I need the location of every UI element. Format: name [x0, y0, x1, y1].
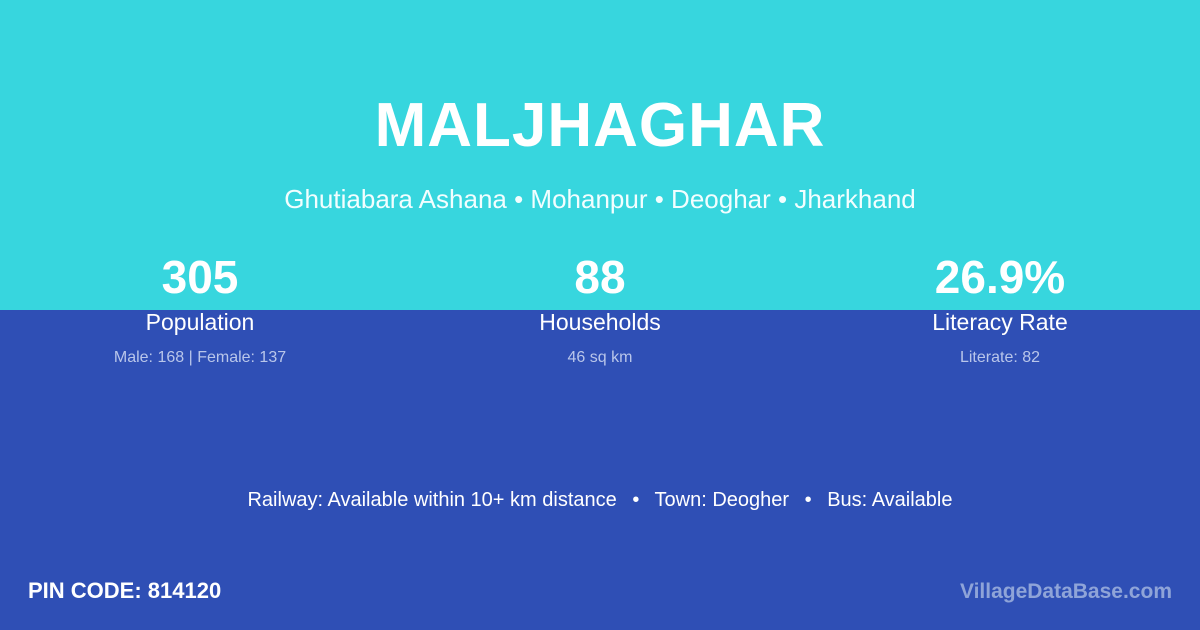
bullet-separator-icon: •: [622, 489, 649, 511]
bullet-separator-icon: •: [795, 489, 822, 511]
stat-value: 26.9%: [800, 248, 1200, 306]
page-title: MALJHAGHAR: [0, 86, 1200, 166]
stat-sublabel: Male: 168 | Female: 137: [0, 347, 400, 369]
stat-sublabel: Literate: 82: [800, 347, 1200, 369]
stat-households: 88 Households 46 sq km: [400, 248, 800, 369]
stat-value: 88: [400, 248, 800, 306]
amenity-town: Town: Deogher: [655, 489, 790, 511]
stat-sublabel: 46 sq km: [400, 347, 800, 369]
amenity-bus: Bus: Available: [827, 489, 952, 511]
stat-label: Households: [400, 307, 800, 337]
location-breadcrumb: Ghutiabara Ashana • Mohanpur • Deoghar •…: [0, 183, 1200, 215]
amenities-line: Railway: Available within 10+ km distanc…: [0, 486, 1200, 514]
stats-row: 305 Population Male: 168 | Female: 137 8…: [0, 248, 1200, 369]
stat-value: 305: [0, 248, 400, 306]
stat-label: Literacy Rate: [800, 307, 1200, 337]
village-info-card: MALJHAGHAR Ghutiabara Ashana • Mohanpur …: [0, 0, 1200, 630]
stat-label: Population: [0, 307, 400, 337]
site-brand: VillageDataBase.com: [960, 578, 1172, 606]
amenity-railway: Railway: Available within 10+ km distanc…: [247, 489, 616, 511]
stat-literacy-rate: 26.9% Literacy Rate Literate: 82: [800, 248, 1200, 369]
pin-code: PIN CODE: 814120: [28, 576, 221, 606]
stat-population: 305 Population Male: 168 | Female: 137: [0, 248, 400, 369]
